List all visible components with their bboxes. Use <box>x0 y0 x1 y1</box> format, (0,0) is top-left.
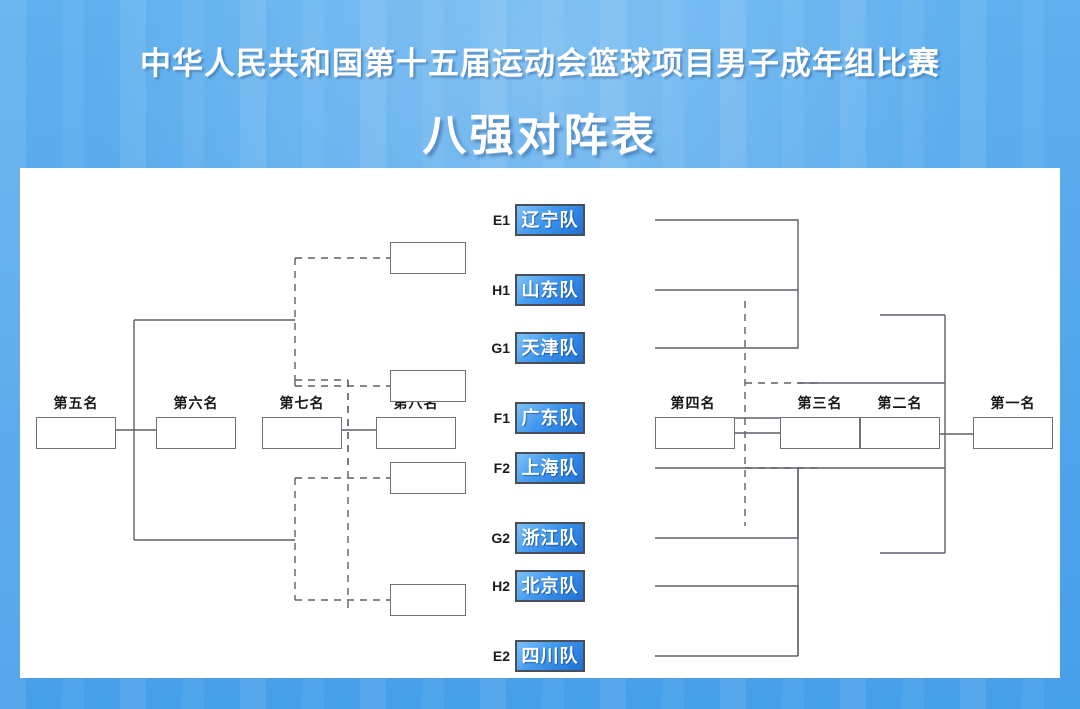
rank-slot-second[interactable] <box>860 417 940 449</box>
rank-label-fourth: 第四名 <box>645 393 741 413</box>
seed-label-f1: F1 <box>484 402 510 434</box>
team-box-shanghai[interactable]: 上海队 <box>515 452 585 484</box>
rank-slot-third[interactable] <box>780 417 860 449</box>
seed-label-e2: E2 <box>484 640 510 672</box>
rank-slot-eighth[interactable] <box>376 417 456 449</box>
team-box-guangdong[interactable]: 广东队 <box>515 402 585 434</box>
line-qf1-to-sf1 <box>655 220 798 296</box>
seed-label-g1: G1 <box>484 332 510 364</box>
rank-slot-seventh[interactable] <box>262 417 342 449</box>
poster-subtitle: 八强对阵表 <box>0 83 1080 163</box>
seed-label-f2: F2 <box>484 452 510 484</box>
rank-label-second: 第二名 <box>852 393 948 413</box>
seed-label-h2: H2 <box>484 570 510 602</box>
rank-label-seventh: 第七名 <box>254 393 350 413</box>
poster-title: 中华人民共和国第十五届运动会篮球项目男子成年组比赛 <box>0 0 1080 83</box>
team-box-liaoning[interactable]: 辽宁队 <box>515 204 585 236</box>
poster-header: 中华人民共和国第十五届运动会篮球项目男子成年组比赛 八强对阵表 <box>0 0 1080 168</box>
rank-label-fifth: 第五名 <box>28 393 124 413</box>
team-box-sichuan[interactable]: 四川队 <box>515 640 585 672</box>
consolation-slot-lower-1[interactable] <box>390 462 466 494</box>
team-box-tianjin[interactable]: 天津队 <box>515 332 585 364</box>
seed-label-g2: G2 <box>484 522 510 554</box>
rank-slot-first[interactable] <box>973 417 1053 449</box>
team-box-beijing[interactable]: 北京队 <box>515 570 585 602</box>
team-box-zhejiang[interactable]: 浙江队 <box>515 522 585 554</box>
rank-label-first: 第一名 <box>965 393 1061 413</box>
consolation-slot-upper-1[interactable] <box>390 242 466 274</box>
rank-label-sixth: 第六名 <box>148 393 244 413</box>
bracket-board: E1 辽宁队 H1 山东队 G1 天津队 F1 广东队 F2 上海队 G2 浙江… <box>20 168 1060 678</box>
team-box-shandong[interactable]: 山东队 <box>515 274 585 306</box>
rank-slot-fifth[interactable] <box>36 417 116 449</box>
rank-slot-sixth[interactable] <box>156 417 236 449</box>
consolation-slot-lower-2[interactable] <box>390 584 466 616</box>
rank-slot-fourth[interactable] <box>655 417 735 449</box>
seed-label-h1: H1 <box>484 274 510 306</box>
bracket-poster: 中华人民共和国第十五届运动会篮球项目男子成年组比赛 八强对阵表 <box>0 0 1080 709</box>
consolation-slot-upper-2[interactable] <box>390 370 466 402</box>
line-qf3-to-sf1 <box>655 296 798 348</box>
seed-label-e1: E1 <box>484 204 510 236</box>
